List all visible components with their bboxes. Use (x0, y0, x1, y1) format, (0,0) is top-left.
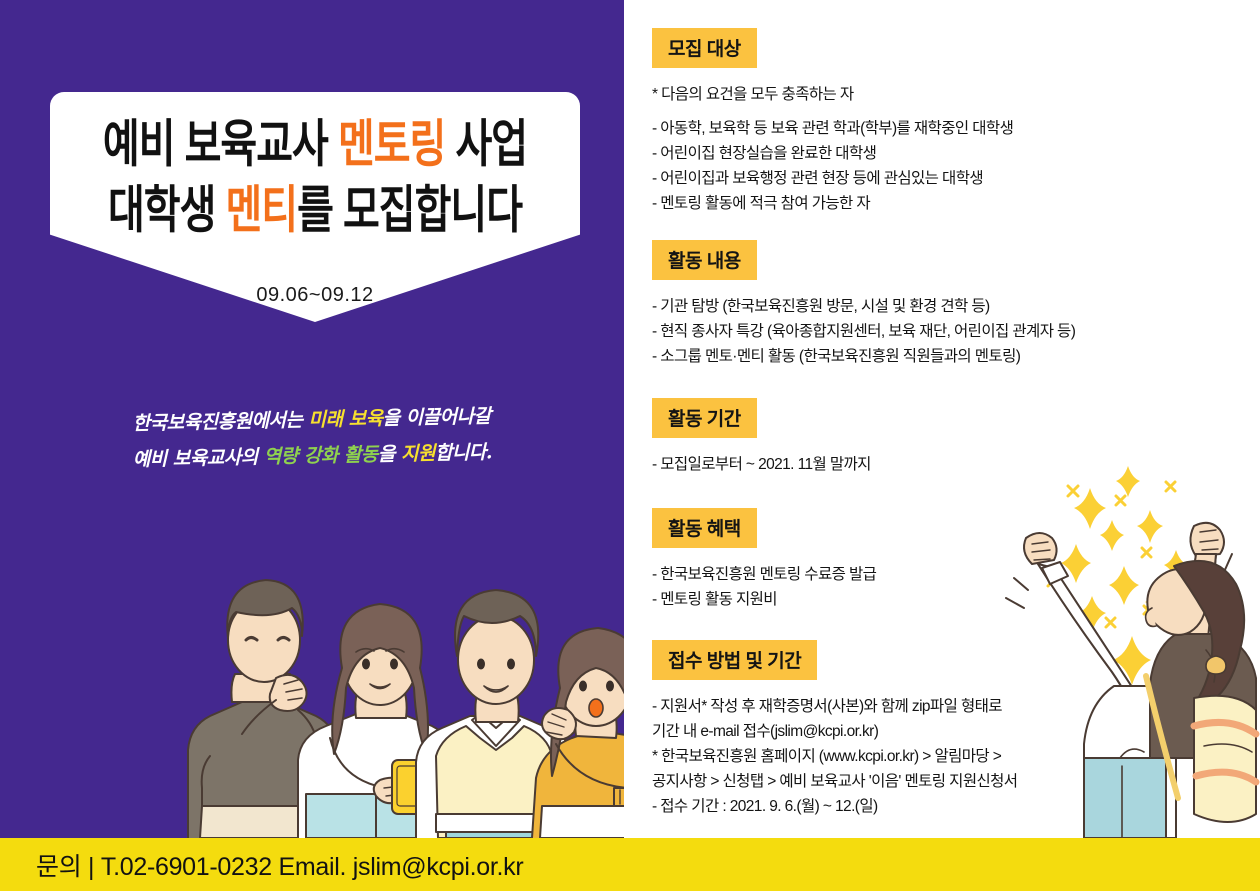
section-tag-activity-benefit: 활동 혜택 (652, 508, 757, 548)
body-line: - 기관 탐방 (한국보육진흥원 방문, 시설 및 환경 견학 등) (652, 294, 1075, 319)
body-line: - 아동학, 보육학 등 보육 관련 학과(학부)를 재학중인 대학생 (652, 116, 1013, 141)
poster-title-line-2: 대학생 멘티를 모집합니다 (108, 184, 522, 238)
hw2-e: 합니다. (435, 441, 493, 464)
section-body-activity-period: - 모집일로부터 ~ 2021. 11월 말까지 (652, 452, 871, 477)
body-line: - 멘토링 활동에 적극 참여 가능한 자 (652, 191, 1013, 216)
section-tag-activity-content: 활동 내용 (652, 240, 757, 280)
cheering-pair-illustration (980, 458, 1260, 838)
hw2-c: 을 (378, 443, 402, 465)
poster-root: 예비 보육교사 멘토링 사업 대학생 멘티를 모집합니다 09.06~09.12… (0, 0, 1260, 891)
right-content-column: 모집 대상 * 다음의 요건을 모두 충족하는 자 - 아동학, 보육학 등 보… (624, 0, 1260, 838)
title-2-accent: 멘티 (225, 183, 297, 239)
section-tag-activity-period: 활동 기간 (652, 398, 757, 438)
body-line: - 어린이집과 보육행정 관련 현장 등에 관심있는 대학생 (652, 166, 1013, 191)
left-purple-panel: 예비 보육교사 멘토링 사업 대학생 멘티를 모집합니다 09.06~09.12… (0, 0, 624, 838)
body-line: - 멘토링 활동 지원비 (652, 587, 876, 612)
title-1-accent: 멘토링 (338, 117, 445, 173)
section-tag-application-method: 접수 방법 및 기간 (652, 640, 817, 680)
title-banner: 예비 보육교사 멘토링 사업 대학생 멘티를 모집합니다 09.06~09.12 (50, 92, 580, 322)
section-application-method: 접수 방법 및 기간 - 지원서* 작성 후 재학증명서(사본)와 함께 zip… (652, 640, 1017, 820)
section-body-recruit-target: * 다음의 요건을 모두 충족하는 자 - 아동학, 보육학 등 보육 관련 학… (652, 82, 1013, 217)
hw1-c: 을 이끌어나갈 (382, 405, 490, 429)
section-body-activity-content: - 기관 탐방 (한국보육진흥원 방문, 시설 및 환경 견학 등) - 현직 … (652, 294, 1075, 369)
handwritten-tagline: 한국보육진흥원에서는 미래 보육을 이끌어나갈 예비 보육교사의 역량 강화 활… (0, 395, 624, 480)
students-illustration (180, 488, 624, 838)
title-2-pre: 대학생 (108, 183, 226, 239)
body-line: - 어린이집 현장실습을 완료한 대학생 (652, 141, 1013, 166)
hw2-a: 예비 보육교사의 (132, 446, 264, 471)
section-activity-benefit: 활동 혜택 - 한국보육진흥원 멘토링 수료증 발급 - 멘토링 활동 지원비 (652, 508, 876, 612)
body-line: - 한국보육진흥원 멘토링 수료증 발급 (652, 562, 876, 587)
hw1-a: 한국보육진흥원에서는 (132, 409, 308, 435)
section-activity-content: 활동 내용 - 기관 탐방 (한국보육진흥원 방문, 시설 및 환경 견학 등)… (652, 240, 1075, 369)
poster-date-range: 09.06~09.12 (50, 284, 580, 307)
section-tag-recruit-target: 모집 대상 (652, 28, 757, 68)
title-1-pre: 예비 보육교사 (103, 117, 338, 173)
hw1-b: 미래 보육 (308, 408, 382, 432)
hw2-d: 지원 (401, 443, 435, 466)
body-line: 기간 내 e-mail 접수(jslim@kcpi.or.kr) (652, 719, 1017, 744)
body-line: - 접수 기간 : 2021. 9. 6.(월) ~ 12.(일) (652, 794, 1017, 819)
section-body-application-method: - 지원서* 작성 후 재학증명서(사본)와 함께 zip파일 형태로 기간 내… (652, 694, 1017, 820)
title-1-post: 사업 (445, 117, 527, 173)
body-line: - 지원서* 작성 후 재학증명서(사본)와 함께 zip파일 형태로 (652, 694, 1017, 719)
footer-contact-text: 문의 | T.02-6901-0232 Email. jslim@kcpi.or… (36, 847, 523, 883)
title-2-post: 를 모집합니다 (297, 183, 522, 239)
footer-contact-bar: 문의 | T.02-6901-0232 Email. jslim@kcpi.or… (0, 838, 1260, 891)
section-recruit-target: 모집 대상 * 다음의 요건을 모두 충족하는 자 - 아동학, 보육학 등 보… (652, 28, 1013, 217)
body-line: - 현직 종사자 특강 (육아종합지원센터, 보육 재단, 어린이집 관계자 등… (652, 319, 1075, 344)
body-line: * 한국보육진흥원 홈페이지 (www.kcpi.or.kr) > 알림마당 > (652, 744, 1017, 769)
body-line: * 다음의 요건을 모두 충족하는 자 (652, 82, 1013, 107)
hw2-b: 역량 강화 활동 (264, 444, 379, 468)
section-body-activity-benefit: - 한국보육진흥원 멘토링 수료증 발급 - 멘토링 활동 지원비 (652, 562, 876, 612)
body-spacer (652, 107, 1013, 116)
section-activity-period: 활동 기간 - 모집일로부터 ~ 2021. 11월 말까지 (652, 398, 871, 477)
poster-title-line-1: 예비 보육교사 멘토링 사업 (103, 118, 527, 172)
body-line: - 모집일로부터 ~ 2021. 11월 말까지 (652, 452, 871, 477)
body-line: - 소그룹 멘토·멘티 활동 (한국보육진흥원 직원들과의 멘토링) (652, 344, 1075, 369)
body-line: 공지사항 > 신청탭 > 예비 보육교사 '이음' 멘토링 지원신청서 (652, 769, 1017, 794)
